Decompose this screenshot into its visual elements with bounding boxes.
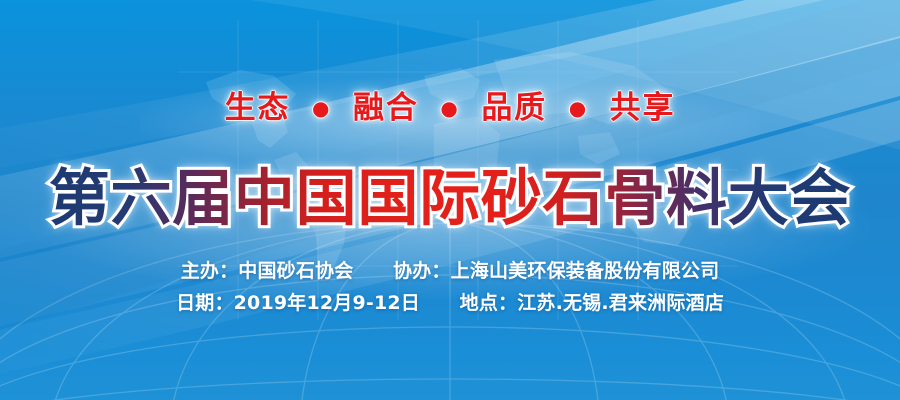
banner-tagline: 生态 ● 融合 ● 品质 ● 共享 bbox=[0, 93, 900, 124]
venue-text: 地点：江苏.无锡.君来洲际酒店 bbox=[460, 292, 724, 314]
tagline-separator-1: ● bbox=[312, 96, 331, 120]
coorganizer-text: 协办：上海山美环保装备股份有限公司 bbox=[393, 260, 719, 282]
banner-headline: 第六届中国国际砂石骨料大会 第六届中国国际砂石骨料大会 bbox=[0, 163, 900, 235]
date-text: 日期：2019年12月9-12日 bbox=[176, 292, 420, 314]
organizer-line: 主办：中国砂石协会 协办：上海山美环保装备股份有限公司 bbox=[0, 262, 900, 281]
tagline-word-1: 生态 bbox=[225, 90, 291, 126]
tagline-word-3: 品质 bbox=[481, 90, 547, 126]
organizer-text: 主办：中国砂石协会 bbox=[181, 260, 354, 282]
tagline-separator-2: ● bbox=[440, 96, 459, 120]
date-venue-line: 日期：2019年12月9-12日 地点：江苏.无锡.君来洲际酒店 bbox=[0, 294, 900, 313]
tagline-word-4: 共享 bbox=[610, 90, 676, 126]
conference-banner: 生态 ● 融合 ● 品质 ● 共享 第六届中国国际砂石骨料大会 第六届中国国际砂… bbox=[0, 0, 900, 400]
banner-content: 生态 ● 融合 ● 品质 ● 共享 第六届中国国际砂石骨料大会 第六届中国国际砂… bbox=[0, 0, 900, 400]
tagline-separator-3: ● bbox=[569, 96, 588, 120]
headline-text: 第六届中国国际砂石骨料大会 bbox=[49, 163, 852, 234]
tagline-word-2: 融合 bbox=[353, 90, 419, 126]
